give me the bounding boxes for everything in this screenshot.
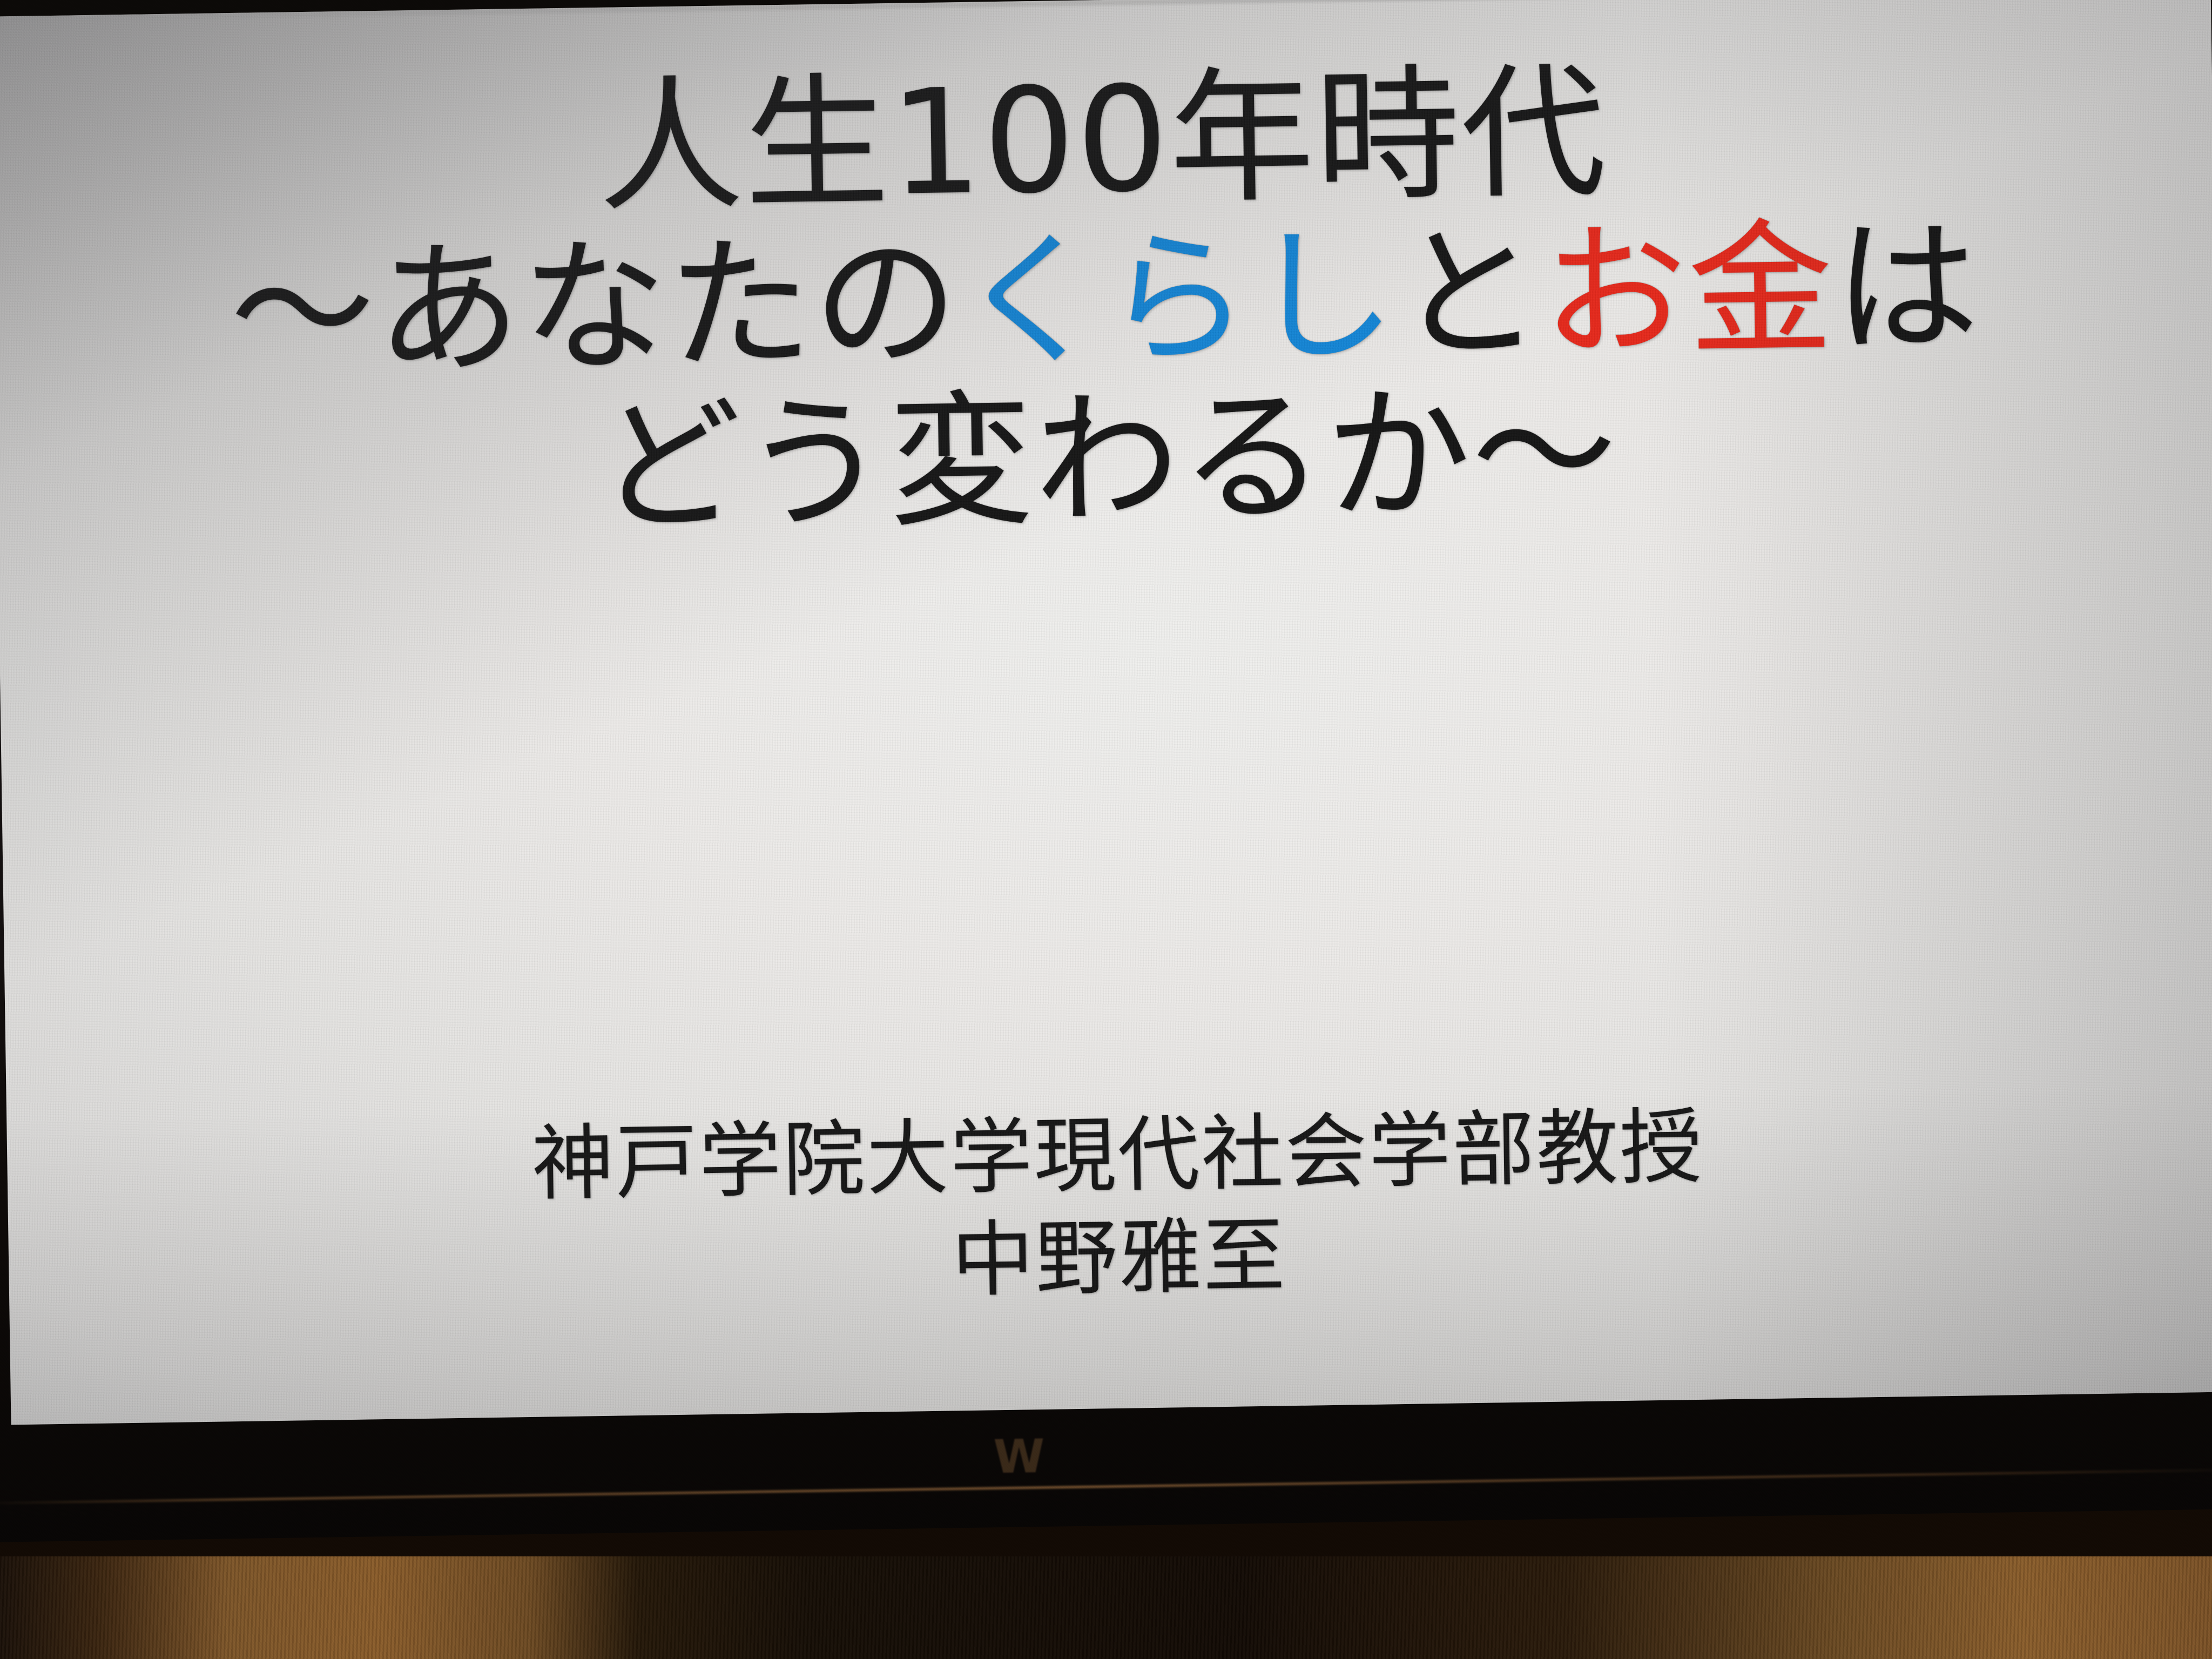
title-line-2-segment-plain-2: と [1395, 210, 1544, 380]
title-line-2-segment-kurashi: くらし [958, 212, 1398, 387]
slide-byline-block: 神戸学院大学現代社会学部教授 中野雅至 [6, 1088, 2212, 1326]
title-line-2: 〜あなたのくらしとお金は [0, 204, 2212, 397]
photo-scene: W 人生100年時代 〜あなたのくらしとお金は どう変わるか〜 神戸学院大学現代… [0, 0, 2212, 1659]
display-monitor: W 人生100年時代 〜あなたのくらしとお金は どう変わるか〜 神戸学院大学現代… [0, 0, 2212, 1594]
title-line-2-segment-plain-3: は [1832, 203, 1981, 374]
title-line-2-segment-okane: お金 [1541, 205, 1836, 378]
monitor-brand-logo: W [993, 1431, 1156, 1481]
presentation-slide: 人生100年時代 〜あなたのくらしとお金は どう変わるか〜 神戸学院大学現代社会… [0, 0, 2212, 1425]
lcd-panel: 人生100年時代 〜あなたのくらしとお金は どう変わるか〜 神戸学院大学現代社会… [0, 0, 2212, 1425]
title-line-2-segment-plain-1: 〜あなたの [229, 218, 960, 397]
slide-title-block: 人生100年時代 〜あなたのくらしとお金は どう変わるか〜 [0, 44, 2212, 557]
